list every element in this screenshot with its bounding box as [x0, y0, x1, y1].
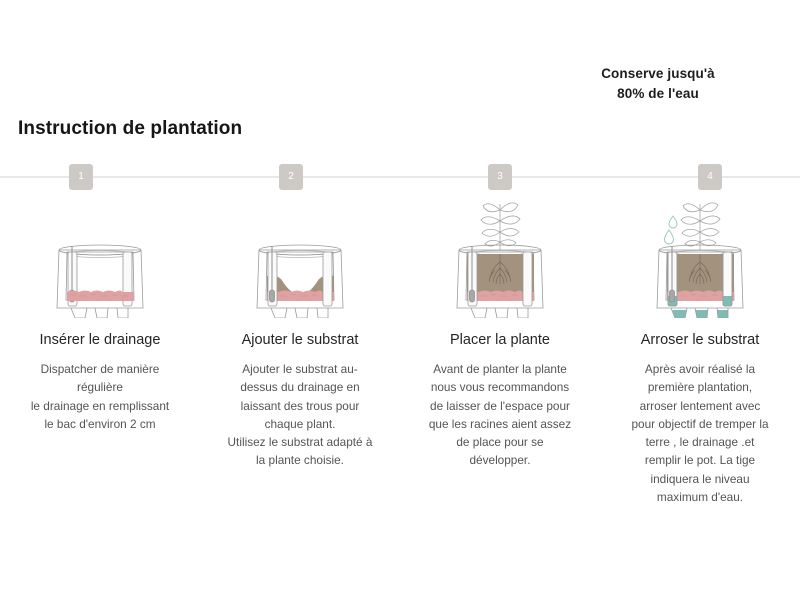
planter-with-plant-illustration	[445, 196, 555, 318]
step-column-4: Arroser le substrat Après avoir réalisé …	[600, 196, 800, 506]
step-badges: 1 2 3 4	[0, 164, 800, 190]
step-badge-3[interactable]: 3	[488, 164, 512, 190]
water-saving-claim: Conserve jusqu'à 80% de l'eau	[548, 64, 768, 103]
planter-with-drainage-illustration	[45, 196, 155, 318]
step-badge-1[interactable]: 1	[69, 164, 93, 190]
plant-foliage	[481, 203, 520, 250]
step-column-1: Insérer le drainage Dispatcher de manièr…	[0, 196, 200, 506]
step-body-2: Ajouter le substrat au- dessus du draina…	[216, 360, 384, 470]
step-title-3: Placer la plante	[450, 332, 550, 348]
page-title: Instruction de plantation	[18, 118, 242, 140]
plant-foliage	[681, 203, 720, 250]
step-title-4: Arroser le substrat	[641, 332, 759, 348]
step-column-2: Ajouter le substrat Ajouter le substrat …	[200, 196, 400, 506]
claim-line-2: 80% de l'eau	[548, 84, 768, 104]
step-badge-4[interactable]: 4	[698, 164, 722, 190]
step-body-4: Après avoir réalisé la première plantati…	[616, 360, 784, 506]
step-title-1: Insérer le drainage	[40, 332, 161, 348]
water-droplet-icon	[665, 216, 678, 244]
step-badge-2[interactable]: 2	[279, 164, 303, 190]
planter-watered-illustration	[645, 196, 755, 318]
claim-line-1: Conserve jusqu'à	[548, 64, 768, 84]
step-title-2: Ajouter le substrat	[242, 332, 359, 348]
water-reservoir	[673, 310, 729, 318]
step-body-3: Avant de planter la plante nous vous rec…	[416, 360, 584, 470]
planter-with-substrate-illustration	[245, 196, 355, 318]
planting-instruction-page: Conserve jusqu'à 80% de l'eau Instructio…	[0, 0, 800, 589]
steps-container: Insérer le drainage Dispatcher de manièr…	[0, 196, 800, 506]
step-column-3: Placer la plante Avant de planter la pla…	[400, 196, 600, 506]
step-body-1: Dispatcher de manière régulière le drain…	[16, 360, 184, 433]
